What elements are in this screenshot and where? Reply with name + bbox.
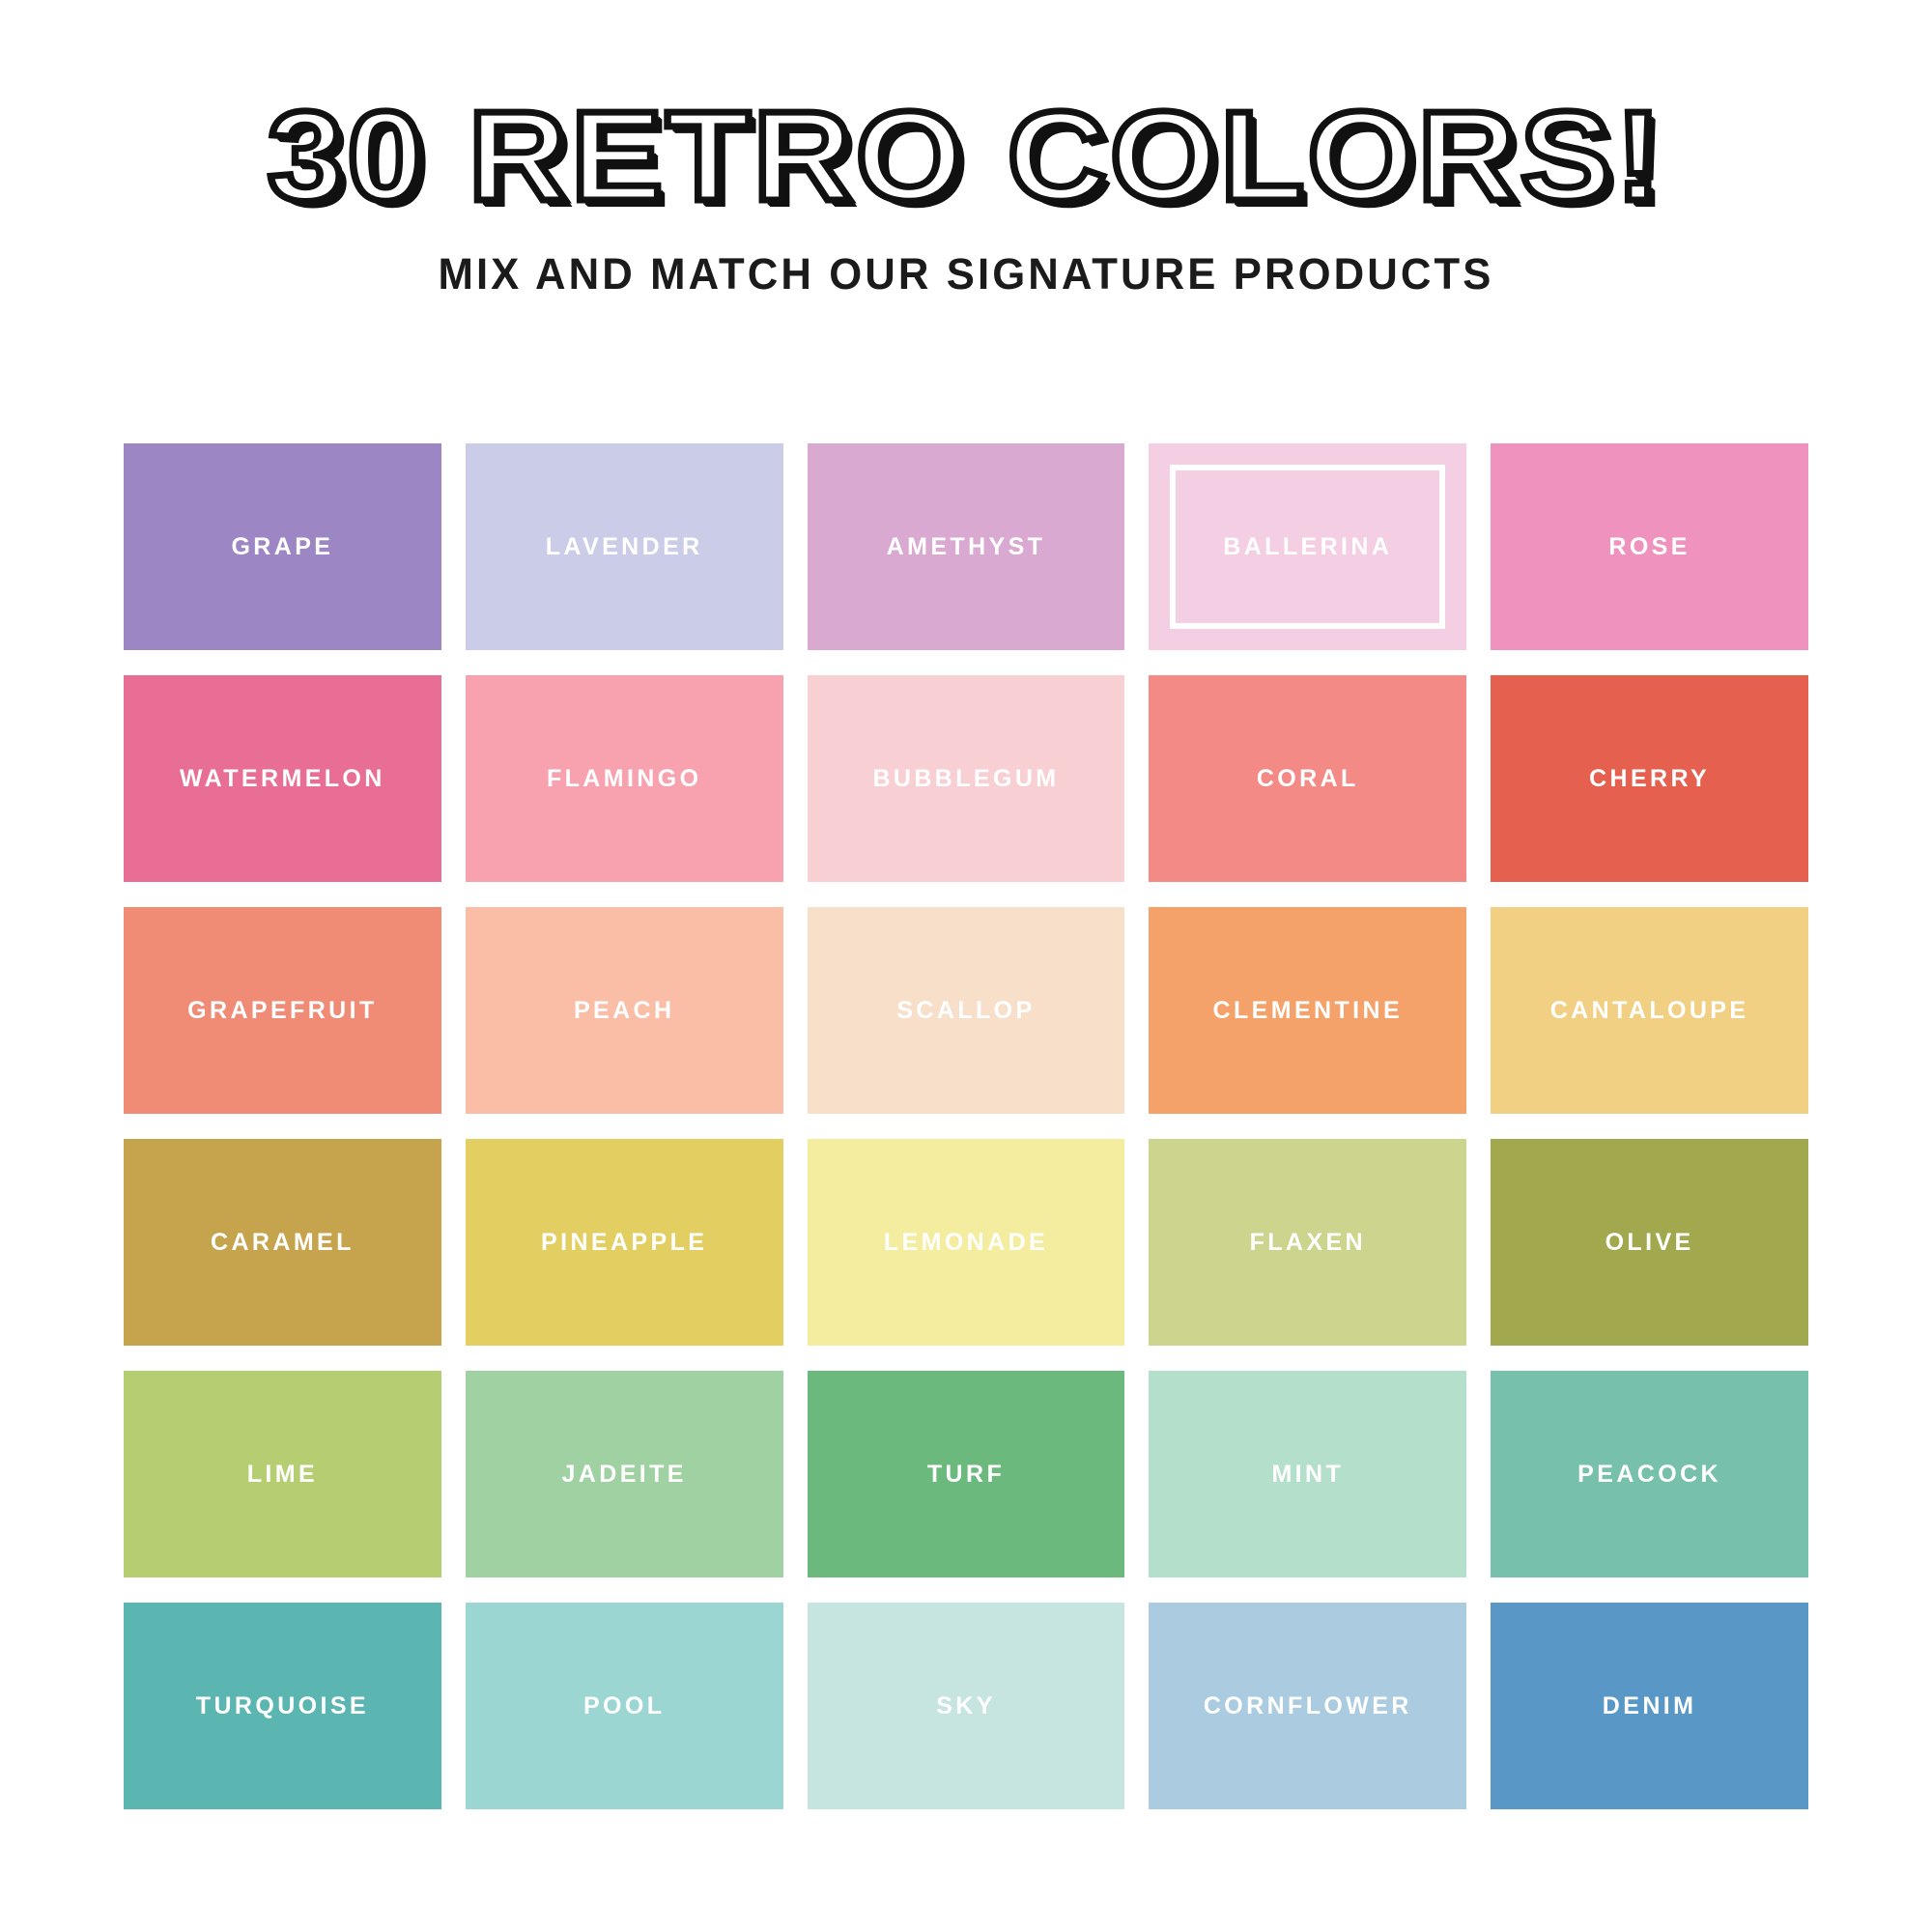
color-swatch-label: PEACOCK xyxy=(1577,1461,1721,1489)
color-swatch-label: OLIVE xyxy=(1605,1229,1694,1257)
color-swatch[interactable]: FLAXEN xyxy=(1149,1139,1466,1346)
color-swatch-label: PINEAPPLE xyxy=(541,1229,707,1257)
color-swatch[interactable]: SKY xyxy=(808,1603,1125,1809)
color-palette-page: 30 RETRO COLORS! MIX AND MATCH OUR SIGNA… xyxy=(0,0,1932,1932)
color-swatch[interactable]: FLAMINGO xyxy=(466,675,783,882)
color-swatch-label: MINT xyxy=(1271,1461,1344,1489)
color-swatch-label: BALLERINA xyxy=(1223,533,1392,561)
color-swatch-label: ROSE xyxy=(1608,533,1690,561)
color-swatch-label: FLAMINGO xyxy=(547,765,702,793)
color-swatch[interactable]: OLIVE xyxy=(1491,1139,1808,1346)
color-swatch[interactable]: PEACOCK xyxy=(1491,1371,1808,1577)
color-swatch[interactable]: DENIM xyxy=(1491,1603,1808,1809)
color-swatch-label: JADEITE xyxy=(562,1461,687,1489)
color-swatch[interactable]: CORNFLOWER xyxy=(1149,1603,1466,1809)
color-swatch[interactable]: CHERRY xyxy=(1491,675,1808,882)
color-swatch[interactable]: CANTALOUPE xyxy=(1491,907,1808,1114)
color-swatch[interactable]: GRAPE xyxy=(124,443,441,650)
color-swatch-label: LIME xyxy=(247,1461,318,1489)
color-swatch[interactable]: CLEMENTINE xyxy=(1149,907,1466,1114)
color-swatch[interactable]: WATERMELON xyxy=(124,675,441,882)
color-swatch-grid: GRAPELAVENDERAMETHYSTBALLERINAROSEWATERM… xyxy=(124,443,1808,1809)
color-swatch[interactable]: POOL xyxy=(466,1603,783,1809)
color-swatch[interactable]: LIME xyxy=(124,1371,441,1577)
page-title: 30 RETRO COLORS! xyxy=(0,0,1932,220)
color-swatch-label: AMETHYST xyxy=(887,533,1046,561)
color-swatch[interactable]: AMETHYST xyxy=(808,443,1125,650)
color-swatch-label: SKY xyxy=(936,1692,996,1720)
color-swatch-label: POOL xyxy=(583,1692,665,1720)
color-swatch[interactable]: SCALLOP xyxy=(808,907,1125,1114)
color-swatch-label: CLEMENTINE xyxy=(1213,997,1404,1025)
color-swatch-label: GRAPEFRUIT xyxy=(187,997,378,1025)
color-swatch[interactable]: LEMONADE xyxy=(808,1139,1125,1346)
color-swatch[interactable]: MINT xyxy=(1149,1371,1466,1577)
color-swatch-label: CARAMEL xyxy=(211,1229,355,1257)
color-swatch-label: PEACH xyxy=(574,997,675,1025)
color-swatch-label: BUBBLEGUM xyxy=(872,765,1059,793)
color-swatch[interactable]: BUBBLEGUM xyxy=(808,675,1125,882)
color-swatch[interactable]: BALLERINA xyxy=(1149,443,1466,650)
color-swatch-label: FLAXEN xyxy=(1250,1229,1366,1257)
color-swatch[interactable]: JADEITE xyxy=(466,1371,783,1577)
color-swatch-label: SCALLOP xyxy=(896,997,1035,1025)
color-swatch[interactable]: ROSE xyxy=(1491,443,1808,650)
color-swatch-label: LAVENDER xyxy=(546,533,703,561)
color-swatch-label: WATERMELON xyxy=(180,765,385,793)
color-swatch-label: CORAL xyxy=(1257,765,1359,793)
color-swatch[interactable]: CARAMEL xyxy=(124,1139,441,1346)
color-swatch[interactable]: PEACH xyxy=(466,907,783,1114)
color-swatch-label: GRAPE xyxy=(231,533,333,561)
color-swatch[interactable]: PINEAPPLE xyxy=(466,1139,783,1346)
color-swatch-label: DENIM xyxy=(1603,1692,1697,1720)
color-swatch-label: CANTALOUPE xyxy=(1550,997,1749,1025)
color-swatch-label: TURQUOISE xyxy=(196,1692,369,1720)
color-swatch-label: TURF xyxy=(927,1461,1005,1489)
color-swatch-label: LEMONADE xyxy=(884,1229,1048,1257)
color-swatch-label: CORNFLOWER xyxy=(1204,1692,1412,1720)
page-subtitle: MIX AND MATCH OUR SIGNATURE PRODUCTS xyxy=(29,220,1903,299)
color-swatch[interactable]: LAVENDER xyxy=(466,443,783,650)
color-swatch[interactable]: TURQUOISE xyxy=(124,1603,441,1809)
color-swatch[interactable]: CORAL xyxy=(1149,675,1466,882)
color-swatch[interactable]: TURF xyxy=(808,1371,1125,1577)
color-swatch[interactable]: GRAPEFRUIT xyxy=(124,907,441,1114)
page-header: 30 RETRO COLORS! MIX AND MATCH OUR SIGNA… xyxy=(0,0,1932,299)
color-swatch-label: CHERRY xyxy=(1589,765,1710,793)
